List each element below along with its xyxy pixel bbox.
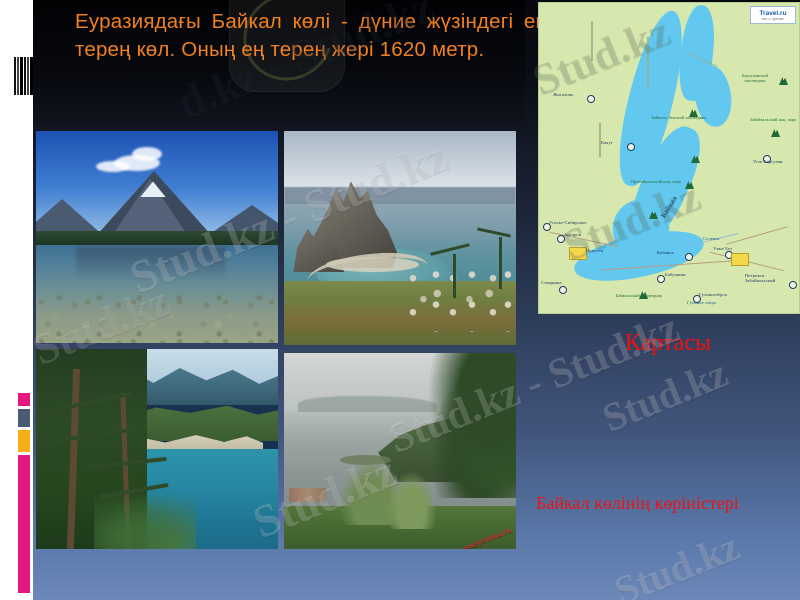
decor-chip-orange [18,430,30,452]
map-label-city: Ангарск [564,232,581,237]
map-river [591,21,593,61]
map-label-city: Качуг [601,140,613,145]
map-label-river: Селенга [703,236,720,241]
map-label-reserve: Баргузинский заповедник [731,73,779,83]
map-label-city: Кабанск [657,250,674,255]
map-city-marker [685,253,693,261]
map-label-city: Петровск-Забайкальский [745,273,791,283]
map-label-reserve: Байкало-Ленский заповедник [651,115,707,120]
photo2-rocks [405,268,512,332]
travel-logo-title: Travel.ru [759,10,786,17]
photo2-tree [453,254,456,298]
map-label-reserve: Забайкальский нац. парк [749,117,797,122]
photo-misty-bay-panorama: www.ecosystema.ru [284,353,516,549]
lake-baikal-map: Жигалово Качуг Усть-Баргузин Усолье-Сиби… [538,2,800,314]
slide-headline: Еуразиядағы Байкал көлі - дүние жүзіндег… [75,8,547,64]
map-city-box-irkutsk [569,247,587,260]
photo1-reflection [76,247,226,281]
photo1-water [36,245,278,343]
map-road [726,226,788,245]
photo-larch-forest-shore [36,349,278,549]
photo4-pine-tree [419,353,516,498]
barcode-decoration-icon [14,57,33,95]
photo2-tree [499,237,502,289]
watermark-text: Stud.kz [596,349,734,441]
map-label-city: Жигалово [553,92,573,97]
map-city-marker [657,275,665,283]
map-label-city: Улан-Удэ [713,246,732,251]
map-label-city: Бабушкин [665,272,686,277]
map-label-city: Иркутск [586,248,603,253]
map-park-marker [779,77,788,85]
map-city-box-ulanude [731,253,749,266]
photo4-village [289,488,326,502]
photo1-cloud [96,161,130,172]
map-river [647,37,649,89]
caption-map: Картасы [538,330,798,357]
map-label-reserve: Байкальский заповедник [613,293,665,298]
map-label-city: Усолье-Сибирское [549,220,587,225]
decor-bar-pink [18,455,30,593]
map-label-city: Слюдянка [541,280,561,285]
map-label-reserve: Прибайкальский нац. парк [629,179,683,184]
photo-collage: www.ecosystema.ru [36,131,516,549]
watermark-text: Stud.kz [608,522,746,600]
map-label-lake: Гусиное озеро [687,300,716,305]
map-city-marker [627,143,635,151]
travel-logo-tagline: все о туризме [762,17,784,21]
caption-photos: Байкал көлінің көріністері [536,489,786,517]
photo-shaman-rock-olkhon [284,131,516,345]
map-city-marker [559,286,567,294]
travel-ru-logo: Travel.ru все о туризме [750,6,796,24]
map-label-city: Усть-Баргузин [753,159,783,164]
decor-chip-pink [18,393,30,406]
photo1-cloud [132,147,162,161]
headline-panel: Еуразиядағы Байкал көлі - дүние жүзіндег… [33,0,525,125]
map-park-marker [771,129,780,137]
map-city-marker [587,95,595,103]
presentation-slide: Еуразиядағы Байкал көлі - дүние жүзіндег… [0,0,800,600]
photo-mountain-reflection [36,131,278,343]
decor-chip-slate [18,409,30,427]
map-label-city: Гусиноозёрск [699,292,727,297]
photo3-undergrowth [94,489,196,549]
photo1-treeline [36,231,278,245]
photo1-pebbles [36,290,278,343]
